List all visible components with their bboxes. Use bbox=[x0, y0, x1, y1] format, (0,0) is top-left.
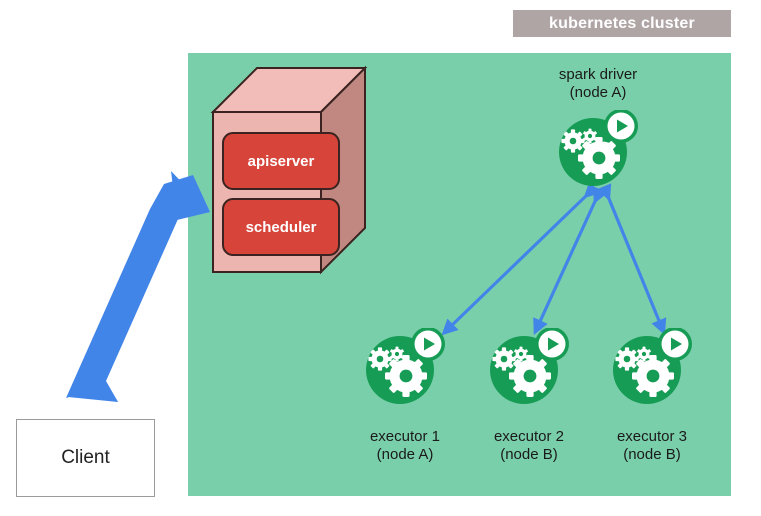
kubernetes-cluster-tag: kubernetes cluster bbox=[513, 10, 731, 37]
executor-2-label: executor 2 (node B) bbox=[459, 428, 599, 464]
executor-1-title: executor 1 bbox=[335, 428, 475, 446]
client-box[interactable]: Client bbox=[16, 419, 155, 497]
executor-2-title: executor 2 bbox=[459, 428, 599, 446]
kubernetes-cluster-tag-label: kubernetes cluster bbox=[549, 15, 695, 33]
apiserver-slot-label: apiserver bbox=[248, 153, 315, 170]
executor-1-subtitle: (node A) bbox=[335, 446, 475, 464]
spark-driver-subtitle: (node A) bbox=[528, 84, 668, 102]
spark-driver-title: spark driver bbox=[528, 66, 668, 84]
apiserver-slot[interactable]: apiserver bbox=[222, 132, 340, 190]
executor-1-label: executor 1 (node A) bbox=[335, 428, 475, 464]
executor-1-node[interactable] bbox=[360, 328, 450, 406]
executor-2-subtitle: (node B) bbox=[459, 446, 599, 464]
executor-3-title: executor 3 bbox=[582, 428, 722, 446]
client-label: Client bbox=[61, 447, 110, 469]
spark-driver-node[interactable] bbox=[553, 110, 643, 188]
gears-play-icon bbox=[484, 328, 574, 406]
spark-driver-label: spark driver (node A) bbox=[528, 66, 668, 102]
executor-3-node[interactable] bbox=[607, 328, 697, 406]
scheduler-slot-label: scheduler bbox=[246, 219, 317, 236]
spark-submit-arrow: spark-submit bbox=[58, 165, 218, 405]
executor-2-node[interactable] bbox=[484, 328, 574, 406]
diagram-canvas: kubernetes cluster apiserver schedule bbox=[0, 0, 761, 516]
scheduler-slot[interactable]: scheduler bbox=[222, 198, 340, 256]
control-plane-cube: apiserver scheduler bbox=[205, 60, 370, 275]
gears-play-icon bbox=[553, 110, 643, 188]
executor-3-subtitle: (node B) bbox=[582, 446, 722, 464]
gears-play-icon bbox=[607, 328, 697, 406]
executor-3-label: executor 3 (node B) bbox=[582, 428, 722, 464]
gears-play-icon bbox=[360, 328, 450, 406]
